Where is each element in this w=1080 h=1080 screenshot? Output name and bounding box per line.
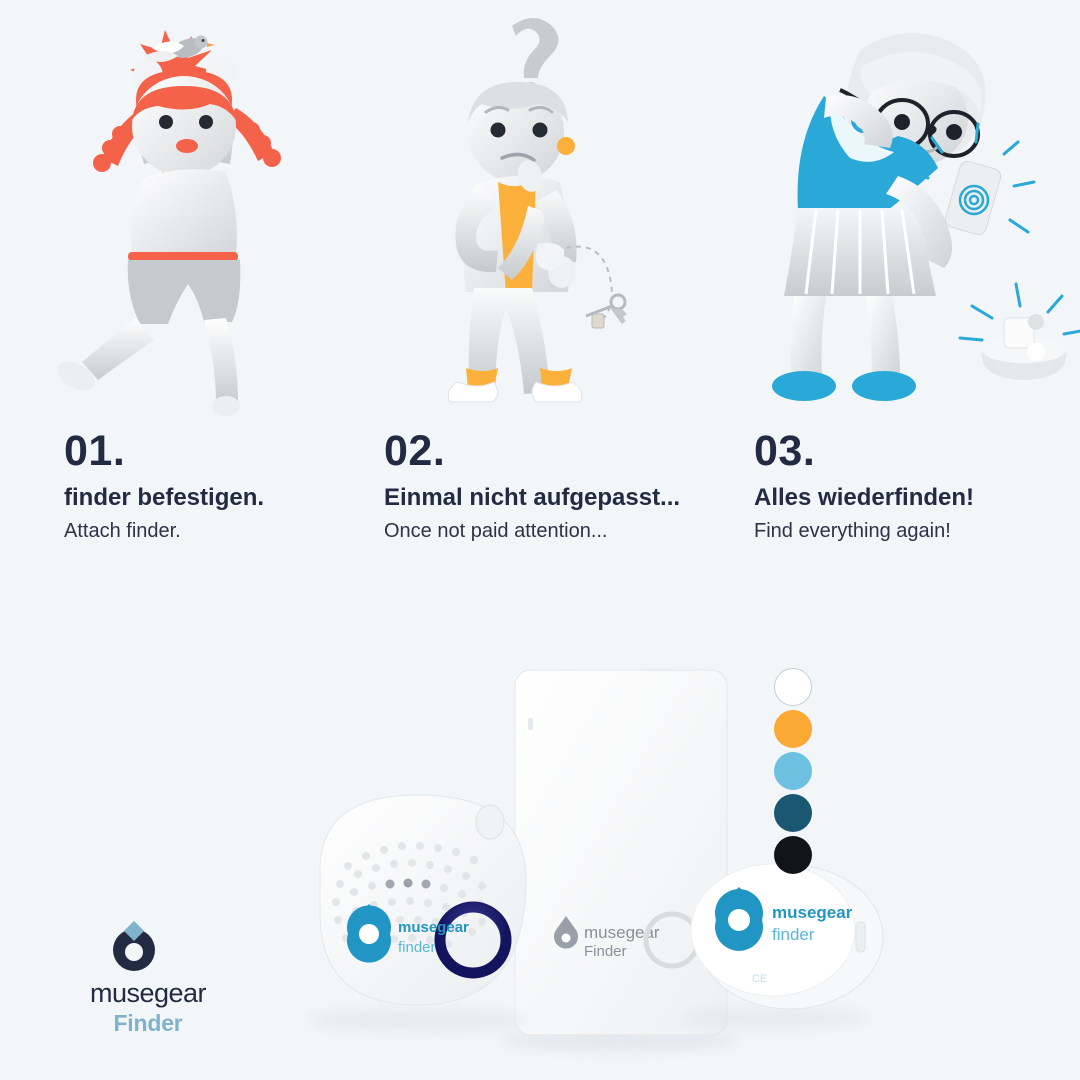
- step-number: 03.: [754, 428, 974, 474]
- ear-finder: [557, 137, 575, 155]
- musegear-droplet-icon: [106, 915, 162, 971]
- brand-logo: musegear Finder: [48, 915, 248, 1045]
- svg-text:musegear: musegear: [398, 919, 469, 936]
- keys-icon: [586, 295, 627, 328]
- step-01: 01. finder befestigen. Attach finder.: [64, 428, 264, 544]
- product-square-finder: musegear finder: [308, 795, 528, 1032]
- step-number: 01.: [64, 428, 264, 474]
- step-number: 02.: [384, 428, 680, 474]
- swatch-orange[interactable]: [774, 710, 812, 748]
- illustration-girl-cheering: [40, 0, 370, 420]
- step-03: 03. Alles wiederfinden! Find everything …: [754, 428, 974, 544]
- illustration-grandma-finding: [720, 0, 1080, 420]
- svg-text:Finder: Finder: [584, 943, 627, 960]
- brand-name: musegear: [48, 978, 248, 1009]
- product-card-finder: musegear Finder: [500, 670, 740, 1052]
- step-title-de: Alles wiederfinden!: [754, 483, 974, 513]
- step-title-de: finder befestigen.: [64, 483, 264, 513]
- swatch-white[interactable]: [774, 668, 812, 706]
- promo-infographic: 01. finder befestigen. Attach finder. 02…: [0, 0, 1080, 1080]
- step-title-en: Attach finder.: [64, 518, 264, 544]
- bowl-with-finder: [982, 314, 1067, 380]
- brand-subtitle: Finder: [48, 1010, 248, 1037]
- color-swatch-list: [774, 668, 818, 876]
- steps-row: 01. finder befestigen. Attach finder. 02…: [0, 428, 1080, 558]
- svg-text:finder: finder: [398, 939, 436, 956]
- waist-band: [128, 252, 238, 261]
- illustration-row: [0, 0, 1080, 420]
- step-title-de: Einmal nicht aufgepasst...: [384, 483, 680, 513]
- swatch-black[interactable]: [774, 836, 812, 874]
- ce-marking: CE: [752, 973, 767, 985]
- swatch-light-blue[interactable]: [774, 752, 812, 790]
- svg-text:musegear: musegear: [772, 903, 853, 922]
- svg-text:finder: finder: [772, 925, 815, 944]
- step-02: 02. Einmal nicht aufgepasst... Once not …: [384, 428, 680, 544]
- smartphone: [943, 160, 1002, 237]
- illustration-man-thinking: [370, 0, 700, 420]
- swatch-dark-teal[interactable]: [774, 794, 812, 832]
- step-title-en: Once not paid attention...: [384, 518, 680, 544]
- step-title-en: Find everything again!: [754, 518, 974, 544]
